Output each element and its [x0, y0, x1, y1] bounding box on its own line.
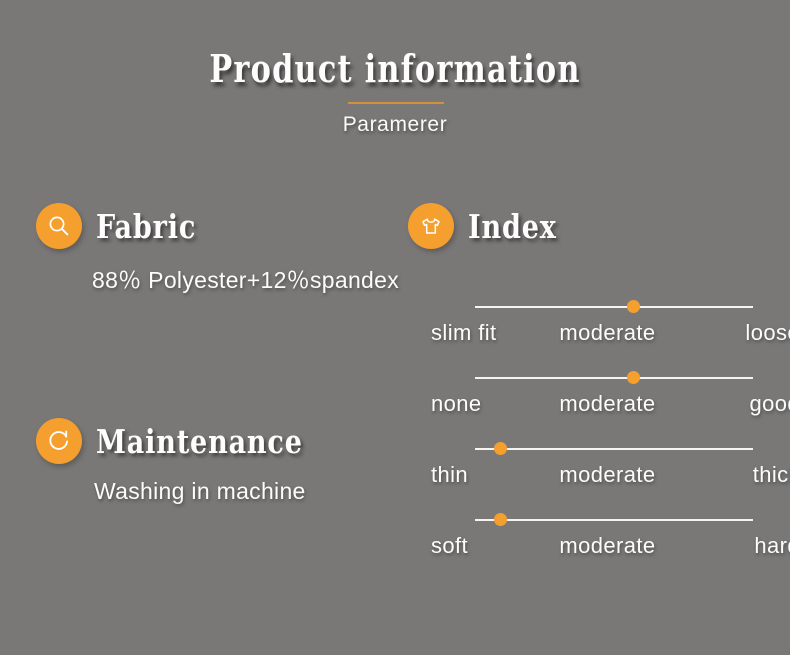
slider-label-high: good	[749, 391, 790, 417]
slider-row-elasticity[interactable]: none moderate good	[475, 371, 790, 442]
section-index: Index	[408, 203, 576, 249]
section-maintenance-title: Maintenance	[96, 422, 303, 461]
section-index-header: Index	[408, 203, 576, 249]
section-index-title: Index	[468, 207, 557, 246]
refresh-icon	[36, 418, 82, 464]
slider-track[interactable]	[475, 306, 753, 308]
title-divider	[348, 102, 444, 104]
section-fabric: Fabric 88％ Polyester+12％spandex	[36, 203, 399, 295]
slider-row-thickness[interactable]: thin moderate thick	[475, 442, 790, 513]
search-icon	[36, 203, 82, 249]
slider-row-fit[interactable]: slim fit moderate loose	[475, 300, 790, 371]
fabric-composition-value: 88％ Polyester+12％spandex	[92, 261, 399, 295]
slider-knob[interactable]	[494, 513, 507, 526]
slider-tick-labels: thin moderate thick	[425, 462, 790, 496]
slider-track[interactable]	[475, 377, 753, 379]
section-fabric-title: Fabric	[96, 207, 196, 246]
slider-tick-labels: slim fit moderate loose	[425, 320, 790, 354]
slider-track[interactable]	[475, 448, 753, 450]
maintenance-instruction-value: Washing in machine	[94, 478, 348, 505]
slider-label-mid: moderate	[425, 462, 790, 488]
tshirt-icon	[408, 203, 454, 249]
page-subtitle: Paramerer	[0, 113, 790, 137]
product-information-panel: Product information Paramerer Fabric 88％…	[0, 0, 790, 655]
section-fabric-header: Fabric	[36, 203, 399, 249]
slider-label-mid: moderate	[425, 320, 790, 346]
slider-tick-labels: none moderate good	[425, 391, 790, 425]
index-slider-group: slim fit moderate loose none moderate go…	[475, 300, 790, 584]
slider-label-mid: moderate	[425, 533, 790, 559]
slider-row-softness[interactable]: soft moderate hard	[475, 513, 790, 584]
slider-knob[interactable]	[494, 442, 507, 455]
page-title: Product information	[79, 46, 711, 91]
slider-label-high: hard	[754, 533, 790, 559]
section-maintenance-header: Maintenance	[36, 418, 348, 464]
slider-label-mid: moderate	[425, 391, 790, 417]
slider-knob[interactable]	[627, 371, 640, 384]
slider-knob[interactable]	[627, 300, 640, 313]
slider-tick-labels: soft moderate hard	[425, 533, 790, 567]
slider-label-high: thick	[753, 462, 790, 488]
slider-label-high: loose	[745, 320, 790, 346]
slider-track[interactable]	[475, 519, 753, 521]
section-maintenance: Maintenance Washing in machine	[36, 418, 348, 505]
